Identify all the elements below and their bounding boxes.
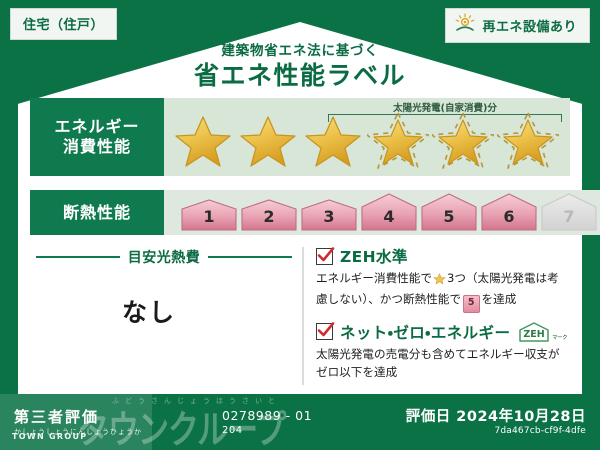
energy-stars-panel: 太陽光発電(自家消費)分: [164, 98, 570, 176]
insulation-performance-row: 断熱性能 1: [30, 190, 570, 235]
criterion-net-zero-energy: ネット・ゼロ・エネルギー ZEH マーク 太陽光発電の売電分も含めてエネルギー収…: [316, 321, 570, 382]
criterion-zeh-standard: ZEH水準 エネルギー消費性能で 3つ（太陽光発電は考慮しない）、かつ断熱性能で…: [316, 245, 570, 313]
star-icon: [302, 111, 364, 169]
rule-right: [208, 256, 292, 258]
utility-cost-value: なし: [30, 293, 302, 329]
insulation-grade-badge: 5: [463, 295, 480, 313]
insulation-level-1: 1: [180, 197, 238, 231]
label-title: 省エネ性能ラベル: [0, 56, 600, 92]
star-icon: [172, 111, 234, 169]
renewable-equipment-badge: 再エネ設備あり: [445, 8, 590, 43]
footer-id-line1: 0278989 - 01: [222, 408, 312, 423]
insulation-level-7: 7: [540, 191, 598, 231]
renewable-badge-label: 再エネ設備あり: [482, 16, 577, 35]
footer-evaluation-date: 評価日 2024年10月28日: [406, 405, 586, 426]
insulation-level-number: 1: [180, 207, 238, 226]
insulation-level-number: 7: [540, 207, 598, 226]
vertical-divider: [302, 247, 304, 385]
insulation-level-number: 5: [420, 207, 478, 226]
star-icon-inline: [433, 272, 446, 291]
insulation-levels-panel: 1 2 3 4: [164, 190, 600, 235]
star-icon-solar: [432, 111, 494, 169]
checkbox-net-zero-energy[interactable]: [316, 323, 333, 340]
utility-cost-section: 目安光熱費 なし: [30, 243, 302, 388]
zeh-logo-caption: マーク: [552, 334, 567, 343]
utility-cost-heading-text: 目安光熱費: [128, 247, 201, 267]
footer-hash: 7da467cb-cf9f-4dfe: [494, 426, 586, 436]
checkbox-zeh-standard[interactable]: [316, 248, 333, 265]
insulation-level-number: 4: [360, 207, 418, 226]
star-icon: [237, 111, 299, 169]
footer-eval-ruby: かしょうしょうにんしょうひょうか: [14, 427, 142, 437]
insulation-level-2: 2: [240, 197, 298, 231]
insulation-level-5: 5: [420, 191, 478, 231]
insulation-level-4: 4: [360, 191, 418, 231]
dwelling-type-tag: 住宅（住戸）: [10, 8, 117, 40]
criteria-section: ZEH水準 エネルギー消費性能で 3つ（太陽光発電は考慮しない）、かつ断熱性能で…: [302, 243, 570, 388]
insulation-performance-label: 断熱性能: [30, 190, 164, 235]
check-icon: [316, 321, 335, 340]
energy-label-line1: エネルギー: [54, 117, 139, 137]
criterion-title: ZEH水準: [340, 245, 408, 267]
star-icon-solar: [497, 111, 559, 169]
utility-cost-heading: 目安光熱費: [36, 247, 292, 267]
insulation-level-3: 3: [300, 197, 358, 231]
criterion-header: ZEH水準: [316, 245, 570, 267]
insulation-level-number: 3: [300, 207, 358, 226]
footer-eval-label: 第三者評価: [14, 406, 99, 427]
criterion-description: エネルギー消費性能で 3つ（太陽光発電は考慮しない）、かつ断熱性能で5を達成: [316, 270, 570, 313]
rule-left: [36, 256, 120, 258]
insulation-level-number: 6: [480, 207, 538, 226]
energy-label-root: 住宅（住戸） 再エネ設備あり 建築物省エネ法に基づく 省エネ性能ラベル: [0, 0, 600, 450]
criterion-header: ネット・ゼロ・エネルギー ZEH マーク: [316, 321, 570, 343]
criterion-desc-part3: を達成: [482, 292, 517, 306]
check-icon: [316, 246, 335, 265]
sun-icon: [454, 13, 476, 37]
svg-text:ZEH: ZEH: [524, 329, 545, 340]
insulation-level-number: 2: [240, 207, 298, 226]
criterion-desc-part1: エネルギー消費性能で: [316, 271, 432, 285]
star-icon-solar: [367, 111, 429, 169]
energy-performance-label: エネルギー 消費性能: [30, 98, 164, 176]
zeh-house-logo: ZEH マーク: [517, 321, 567, 343]
lower-section: 目安光熱費 なし ZEH水準 エネルギー消費性能で: [30, 243, 570, 388]
criterion-description: 太陽光発電の売電分も含めてエネルギー収支がゼロ以下を達成: [316, 346, 570, 382]
criterion-title: ネット・ゼロ・エネルギー: [340, 321, 510, 343]
insulation-level-6: 6: [480, 191, 538, 231]
energy-performance-row: エネルギー 消費性能 太陽光発電(自家消費)分: [30, 98, 570, 176]
footer-id-line2: 204: [222, 425, 243, 436]
energy-label-line2: 消費性能: [63, 137, 131, 157]
footer-bar: かしょうしょうにんしょうひょうか 第三者評価 0278989 - 01 204 …: [0, 394, 600, 450]
